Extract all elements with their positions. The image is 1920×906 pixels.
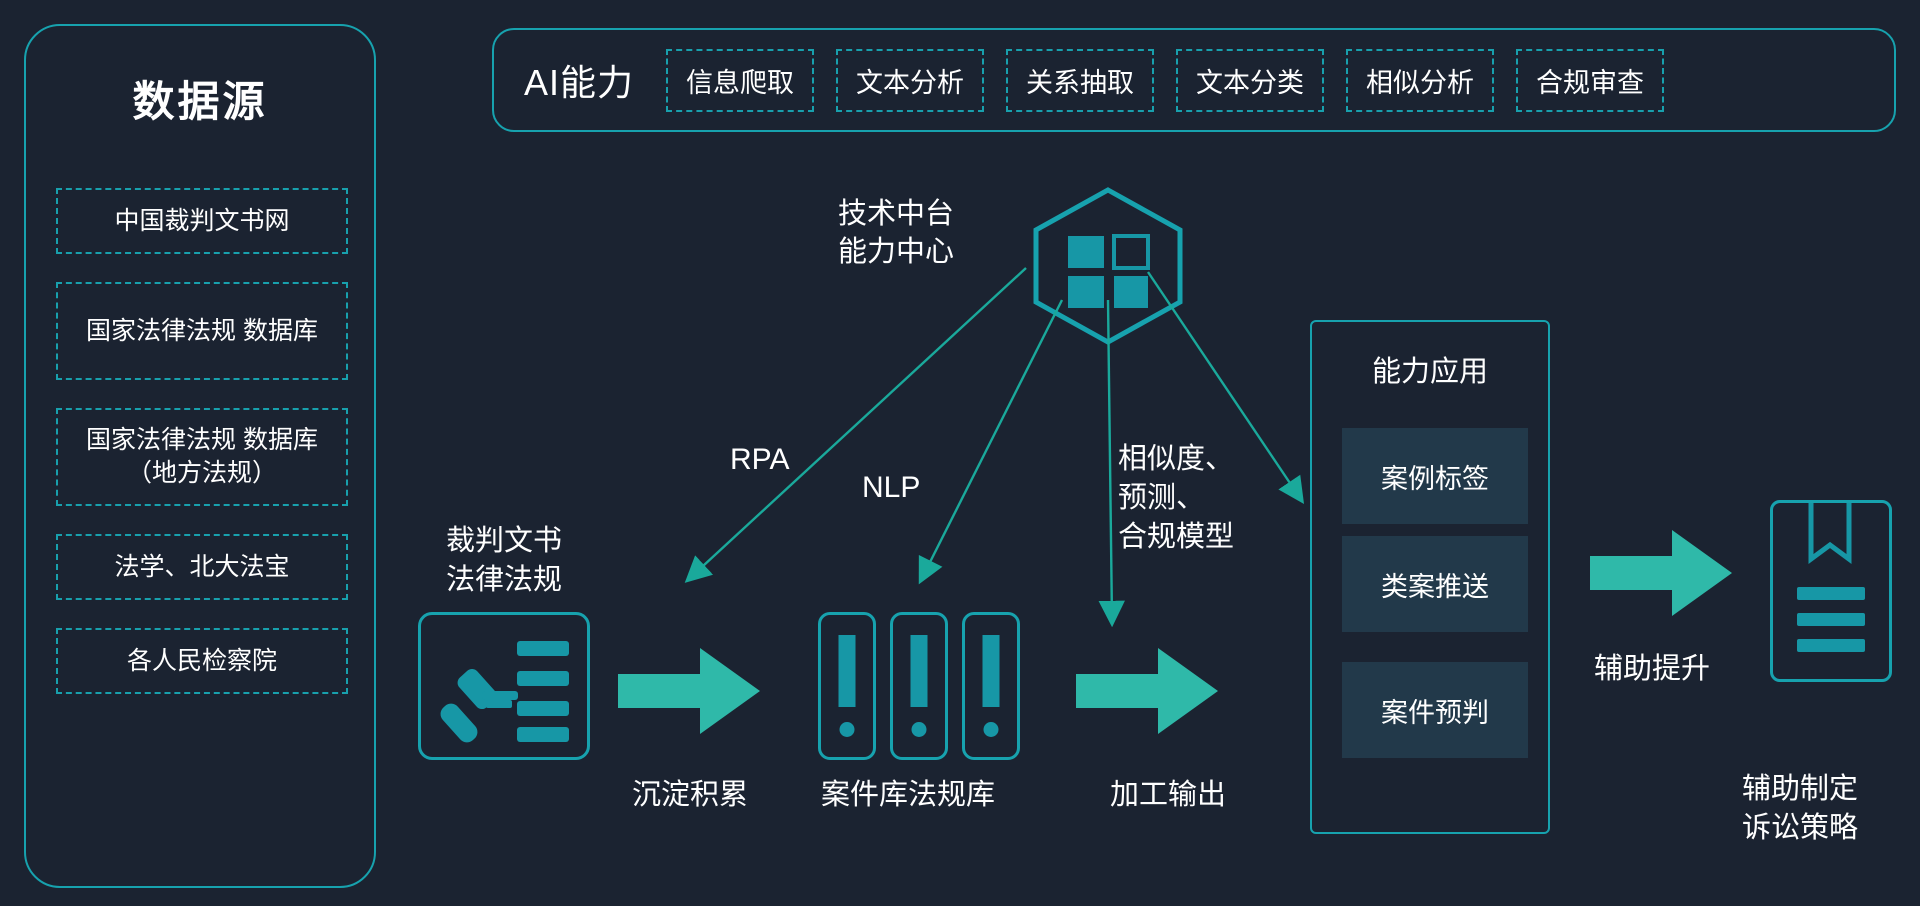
- ai-capability-title: AI能力: [524, 54, 634, 106]
- ai-tag-4[interactable]: 相似分析: [1346, 49, 1494, 112]
- step-assist-caption: 辅助提升: [1594, 650, 1710, 689]
- ai-tag-5[interactable]: 合规审查: [1516, 49, 1664, 112]
- nlp-arrow-label: NLP: [862, 468, 920, 508]
- document-node-caption: 裁判文书 法律法规: [418, 522, 590, 600]
- database-node-caption: 案件库法规库: [798, 776, 1018, 815]
- final-node-caption: 辅助制定 诉讼策略: [1742, 770, 1858, 848]
- server-dot: [984, 722, 999, 737]
- model-arrow-label: 相似度、 预测、 合规模型: [1118, 440, 1234, 557]
- capability-card-2[interactable]: 案件预判: [1342, 662, 1528, 758]
- ai-tag-0[interactable]: 信息爬取: [666, 49, 814, 112]
- server-dot: [840, 722, 855, 737]
- capability-panel-title: 能力应用: [1312, 348, 1548, 390]
- capability-card-0[interactable]: 案例标签: [1342, 428, 1528, 524]
- right-arrow-icon-process: [1076, 648, 1220, 734]
- capability-card-1[interactable]: 类案推送: [1342, 536, 1528, 632]
- ai-capability-bar: AI能力 信息爬取 文本分析 关系抽取 文本分类 相似分析 合规审查: [492, 28, 1896, 132]
- data-source-list: 中国裁判文书网 国家法律法规 数据库 国家法律法规 数据库（地方法规） 法学、北…: [56, 188, 348, 722]
- gavel-document-icon: [418, 612, 590, 760]
- step-sediment-caption: 沉淀积累: [600, 776, 780, 815]
- right-arrow-icon-sediment: [618, 648, 762, 734]
- data-source-title: 数据源: [26, 68, 374, 129]
- hexagon-grid-icon: [1028, 186, 1188, 346]
- data-source-item-3[interactable]: 法学、北大法宝: [56, 534, 348, 600]
- server-icon-1: [890, 612, 948, 760]
- server-icon-0: [818, 612, 876, 760]
- ai-tag-2[interactable]: 关系抽取: [1006, 49, 1154, 112]
- capability-application-panel: 能力应用 案例标签 类案推送 案件预判: [1310, 320, 1550, 834]
- hub-label: 技术中台 能力中心: [838, 195, 954, 272]
- server-bar: [911, 635, 928, 707]
- data-source-item-2[interactable]: 国家法律法规 数据库（地方法规）: [56, 408, 348, 506]
- data-source-item-4[interactable]: 各人民检察院: [56, 628, 348, 694]
- diagram-canvas: 数据源 中国裁判文书网 国家法律法规 数据库 国家法律法规 数据库（地方法规） …: [0, 0, 1920, 906]
- server-dot: [912, 722, 927, 737]
- data-source-panel: 数据源 中国裁判文书网 国家法律法规 数据库 国家法律法规 数据库（地方法规） …: [24, 24, 376, 888]
- data-source-item-0[interactable]: 中国裁判文书网: [56, 188, 348, 254]
- right-arrow-icon-assist: [1590, 530, 1734, 616]
- server-bar: [983, 635, 1000, 707]
- rpa-arrow-label: RPA: [730, 440, 789, 480]
- data-source-item-1[interactable]: 国家法律法规 数据库: [56, 282, 348, 380]
- book-document-icon: [1770, 500, 1892, 682]
- server-bar: [839, 635, 856, 707]
- ai-tag-1[interactable]: 文本分析: [836, 49, 984, 112]
- step-process-caption: 加工输出: [1078, 776, 1258, 815]
- server-icon-2: [962, 612, 1020, 760]
- ai-tag-3[interactable]: 文本分类: [1176, 49, 1324, 112]
